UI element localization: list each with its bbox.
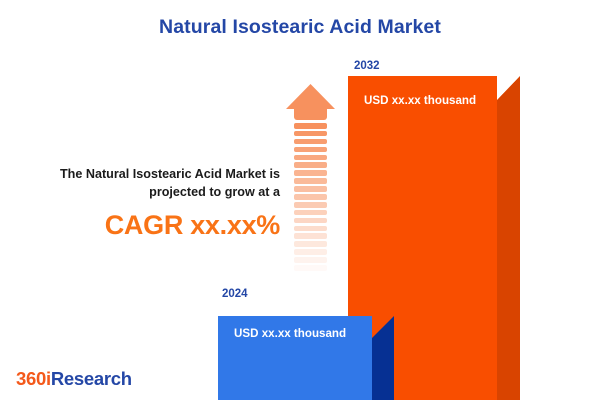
arrow-shaft xyxy=(294,123,327,294)
arrow-shaft-segment xyxy=(294,257,327,263)
arrow-shaft-segment xyxy=(294,210,327,216)
arrow-shaft-segment xyxy=(294,155,327,161)
bar-2024-top-bevel xyxy=(372,316,394,338)
arrow-shaft-segment xyxy=(294,162,327,168)
bar-2032-top-bevel xyxy=(497,76,520,100)
arrow-shaft-segment xyxy=(294,241,327,247)
arrow-shaft-segment xyxy=(294,170,327,176)
bar-2024-side-face xyxy=(372,338,394,400)
bar-label-2032: 2032 xyxy=(354,60,380,72)
cagr-caption-block: The Natural Isostearic Acid Market is pr… xyxy=(8,165,280,240)
arrow-shaft-segment xyxy=(294,186,327,192)
cagr-caption-line-2: projected to grow at a xyxy=(8,183,280,201)
arrow-up-head-icon xyxy=(286,84,335,109)
arrow-shaft-segment xyxy=(294,265,327,271)
bar-2032-side-face xyxy=(497,100,520,400)
cagr-caption-text: The Natural Isostearic Acid Market is pr… xyxy=(8,165,280,201)
brand-logo[interactable]: 360iResearch xyxy=(16,368,132,390)
arrow-shaft-segment xyxy=(294,218,327,224)
page-title: Natural Isostearic Acid Market xyxy=(0,16,600,39)
infographic-canvas: Natural Isostearic Acid Market The Natur… xyxy=(0,0,600,400)
arrow-shaft-segment xyxy=(294,194,327,200)
growth-arrow-icon xyxy=(286,84,335,294)
arrow-shaft-segment xyxy=(294,202,327,208)
arrow-shaft-segment xyxy=(294,249,327,255)
bar-value-2024: USD xx.xx thousand xyxy=(234,327,346,340)
arrow-shaft-segment xyxy=(294,273,327,279)
arrow-shaft-segment xyxy=(294,131,327,137)
cagr-value: CAGR xx.xx% xyxy=(8,210,280,240)
arrow-shaft-segment xyxy=(294,226,327,232)
arrow-shaft-segment xyxy=(294,178,327,184)
brand-logo-360i: 360i xyxy=(16,368,51,389)
arrow-neck xyxy=(294,108,327,120)
cagr-caption-line-1: The Natural Isostearic Acid Market is xyxy=(8,165,280,183)
bar-label-2024: 2024 xyxy=(222,288,248,300)
arrow-shaft-segment xyxy=(294,147,327,153)
arrow-shaft-segment xyxy=(294,123,327,129)
bar-value-2032: USD xx.xx thousand xyxy=(364,94,476,107)
brand-logo-research: Research xyxy=(51,368,132,389)
arrow-shaft-segment xyxy=(294,139,327,145)
arrow-shaft-segment xyxy=(294,233,327,239)
